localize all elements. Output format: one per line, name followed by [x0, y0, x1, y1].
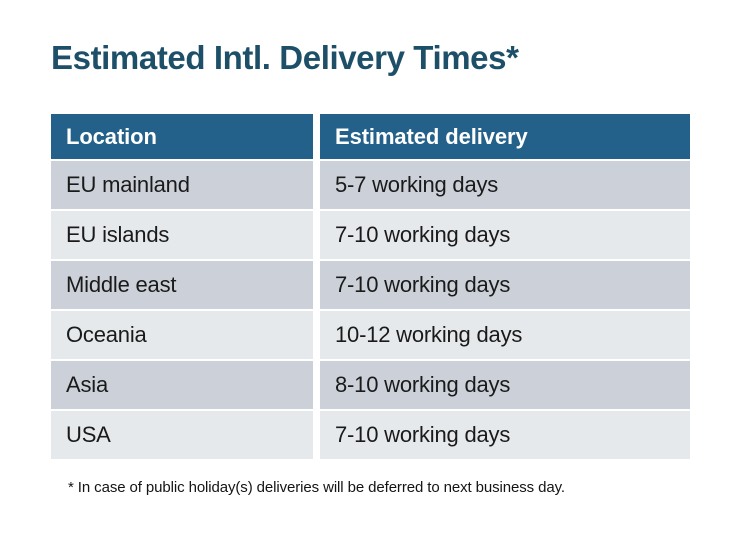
- cell-location: Oceania: [51, 311, 313, 359]
- column-separator: [313, 114, 320, 159]
- table-header-cell-location: Location: [51, 114, 313, 159]
- cell-location: USA: [51, 411, 313, 459]
- cell-delivery-text: 7-10 working days: [335, 272, 510, 298]
- cell-location: EU islands: [51, 211, 313, 259]
- cell-delivery-text: 8-10 working days: [335, 372, 510, 398]
- cell-location-text: Asia: [66, 372, 108, 398]
- cell-location: EU mainland: [51, 161, 313, 209]
- table-row: USA 7-10 working days: [51, 411, 690, 459]
- column-separator: [313, 211, 320, 259]
- cell-location: Middle east: [51, 261, 313, 309]
- table-row: Asia 8-10 working days: [51, 361, 690, 409]
- cell-delivery-text: 7-10 working days: [335, 422, 510, 448]
- column-separator: [313, 411, 320, 459]
- table-header-cell-delivery: Estimated delivery: [320, 114, 690, 159]
- cell-delivery-text: 5-7 working days: [335, 172, 498, 198]
- column-header-location: Location: [66, 124, 157, 150]
- table-row: Oceania 10-12 working days: [51, 311, 690, 359]
- cell-delivery: 10-12 working days: [320, 311, 690, 359]
- table-row: Middle east 7-10 working days: [51, 261, 690, 309]
- cell-delivery: 8-10 working days: [320, 361, 690, 409]
- cell-location-text: USA: [66, 422, 111, 448]
- footnote: * In case of public holiday(s) deliverie…: [68, 479, 565, 496]
- cell-delivery-text: 7-10 working days: [335, 222, 510, 248]
- column-header-delivery: Estimated delivery: [335, 124, 528, 150]
- column-separator: [313, 361, 320, 409]
- table-header-row: Location Estimated delivery: [51, 114, 690, 159]
- cell-location-text: Oceania: [66, 322, 147, 348]
- cell-location-text: EU mainland: [66, 172, 190, 198]
- column-separator: [313, 311, 320, 359]
- cell-delivery: 7-10 working days: [320, 261, 690, 309]
- column-separator: [313, 161, 320, 209]
- table-row: EU mainland 5-7 working days: [51, 161, 690, 209]
- cell-location-text: Middle east: [66, 272, 176, 298]
- cell-location: Asia: [51, 361, 313, 409]
- cell-delivery: 5-7 working days: [320, 161, 690, 209]
- page-title: Estimated Intl. Delivery Times*: [51, 36, 519, 80]
- table-row: EU islands 7-10 working days: [51, 211, 690, 259]
- cell-delivery: 7-10 working days: [320, 411, 690, 459]
- column-separator: [313, 261, 320, 309]
- delivery-times-table: Location Estimated delivery EU mainland …: [51, 114, 690, 461]
- delivery-times-page: Estimated Intl. Delivery Times* Location…: [0, 0, 745, 536]
- cell-delivery-text: 10-12 working days: [335, 322, 522, 348]
- cell-location-text: EU islands: [66, 222, 169, 248]
- cell-delivery: 7-10 working days: [320, 211, 690, 259]
